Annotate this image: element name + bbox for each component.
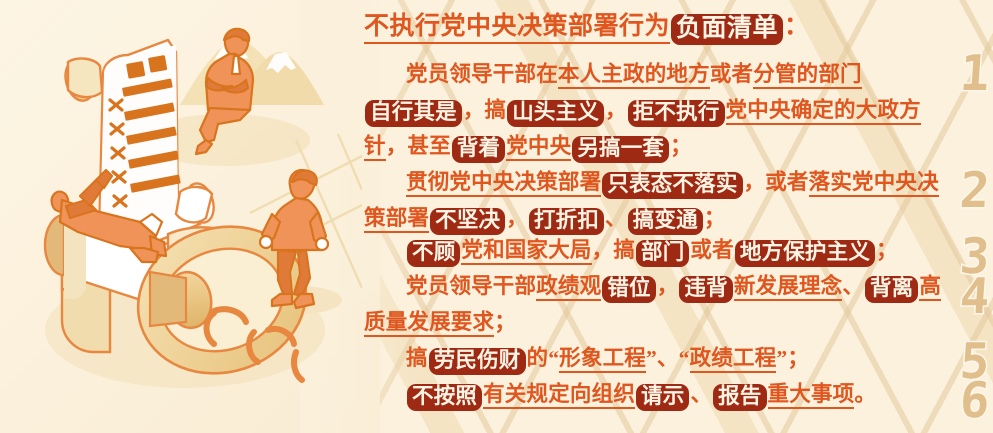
paragraph-6-underline-2: 有关规定 [483, 382, 570, 409]
numeral-6-text: 6 [958, 372, 991, 429]
paragraph-4-underline-6: 新发展理念 [734, 274, 843, 301]
page-title: 不执行党中央决策部署行为负面清单： [364, 6, 810, 45]
page-title-badge: 负面清单 [671, 14, 783, 45]
paragraph-6-punct-5: 、 [690, 382, 712, 406]
paragraph-1-plain-1: 党员领导干部在 [406, 62, 558, 86]
paragraph-5-plain-1: 搞 [406, 346, 428, 370]
numeral-1: 1 [959, 49, 991, 98]
numeral-2: 2 [959, 166, 991, 215]
paragraph-1-underline-4: 分管的部门 [753, 62, 862, 89]
paragraph-1-punct-9: ， [605, 98, 627, 122]
paragraph-2-punct-7: ， [506, 206, 528, 230]
paragraph-2-punct-3: ， [744, 170, 766, 194]
paragraph-2-badge-2: 只表态不落实 [602, 172, 742, 199]
paragraph-1-plain-7: 搞 [485, 98, 507, 122]
paragraph-2-punct-9: 、 [605, 206, 627, 230]
paragraph-1-punct-6: ， [463, 98, 485, 122]
paragraph-6-punct-8: 。 [854, 382, 876, 406]
paragraph-5-punct-8: ； [787, 346, 809, 370]
paragraph-2: 贯彻党中央决策部署只表态不落实，或者落实党中央决策部署不坚决，打折扣、搞变通； [364, 164, 942, 236]
numeral-2-text: 2 [958, 162, 991, 219]
paragraph-1-plain-3: 或者 [710, 62, 753, 86]
poster-root: 1 2 3 4 5 6 不执行党中央决策部署行为负面清单： 党员领导干部在本人主… [0, 0, 993, 433]
paragraph-6-badge-4: 请示 [636, 384, 689, 411]
paragraph-1-badge-5: 自行其是 [365, 100, 462, 127]
paragraph-4-punct-4: ， [657, 274, 679, 298]
paragraph-6-badge-1: 不按照 [407, 384, 482, 411]
paragraph-1-badge-14: 背着 [452, 136, 505, 163]
paragraph-3-badge-7: 地方保护主义 [735, 240, 875, 267]
paragraph-5-plain-3: 的“ [527, 346, 560, 370]
paragraph-5-plain-7: ” [776, 346, 787, 370]
paragraph-1-underline-2: 本人主政的地方 [558, 62, 710, 89]
paragraph-4-underline-2: 政绩观 [536, 274, 601, 301]
paragraph-1-punct-17: ； [670, 134, 692, 158]
paragraph-3-badge-5: 部门 [636, 240, 689, 267]
illustration-megaphone-scene [0, 0, 362, 433]
paragraph-2-plain-4: 或者 [765, 170, 808, 194]
paragraph-1-plain-13: 甚至 [407, 134, 450, 158]
text-content-column: 不执行党中央决策部署行为负面清单： 党员领导干部在本人主政的地方或者分管的部门自… [364, 0, 936, 433]
page-title-colon: ： [784, 13, 810, 40]
paragraph-4-badge-5: 违背 [679, 276, 732, 303]
paragraph-1-underline-15: 党中央 [506, 134, 571, 161]
paragraph-6-underline-7: 重大事项 [768, 382, 855, 409]
paragraph-4-badge-3: 错位 [602, 276, 655, 303]
paragraph-4-punct-7: 、 [842, 274, 864, 298]
paragraph-3-plain-4: 搞 [613, 238, 635, 262]
numeral-4-text: 4 [958, 268, 991, 325]
paragraph-1-badge-16: 另搞一套 [572, 136, 669, 163]
paragraph-3-plain-6: 或者 [690, 238, 733, 262]
paragraph-6: 不按照有关规定向组织请示、报告重大事项。 [364, 376, 942, 412]
page-title-main: 不执行党中央决策部署行为 [364, 13, 670, 44]
paragraph-5-underline-4: 形象工程 [559, 346, 646, 373]
paragraph-3-underline-2: 党和国家大局 [461, 238, 591, 265]
paragraph-5-badge-2: 劳民伤财 [429, 348, 526, 375]
paragraph-3-punct-3: ， [592, 238, 614, 262]
paragraph-6-underline-3: 向组织 [570, 382, 635, 409]
paragraph-3-badge-1: 不顾 [407, 240, 460, 267]
numeral-6: 6 [959, 376, 991, 425]
paragraph-6-badge-6: 报告 [713, 384, 766, 411]
paragraph-5-underline-6: 政绩工程 [690, 346, 777, 373]
paragraph-4: 党员领导干部政绩观错位，违背新发展理念、背离高质量发展要求； [364, 268, 942, 340]
paragraph-3: 不顾党和国家大局，搞部门或者地方保护主义； [364, 232, 942, 268]
numeral-1-text: 1 [958, 45, 991, 102]
paragraph-1-badge-8: 山头主义 [507, 100, 604, 127]
paragraph-1-badge-10: 拒不执行 [628, 100, 725, 127]
paragraph-3-punct-8: ； [876, 238, 898, 262]
paragraph-5: 搞劳民伤财的“形象工程”、“政绩工程”； [364, 340, 942, 376]
paragraph-4-plain-1: 党员领导干部 [406, 274, 536, 298]
paragraph-5-plain-5: ”、“ [646, 346, 690, 370]
numeral-4: 4 [959, 272, 991, 321]
paragraph-4-punct-10: ； [494, 310, 516, 334]
paragraph-1: 党员领导干部在本人主政的地方或者分管的部门自行其是，搞山头主义，拒不执行党中央确… [364, 56, 942, 164]
paragraph-2-underline-1: 贯彻党中央决策部署 [406, 170, 601, 197]
paragraph-1-punct-12: ， [386, 134, 408, 158]
paragraph-4-badge-8: 背离 [865, 276, 918, 303]
paragraph-2-punct-11: ； [704, 206, 726, 230]
